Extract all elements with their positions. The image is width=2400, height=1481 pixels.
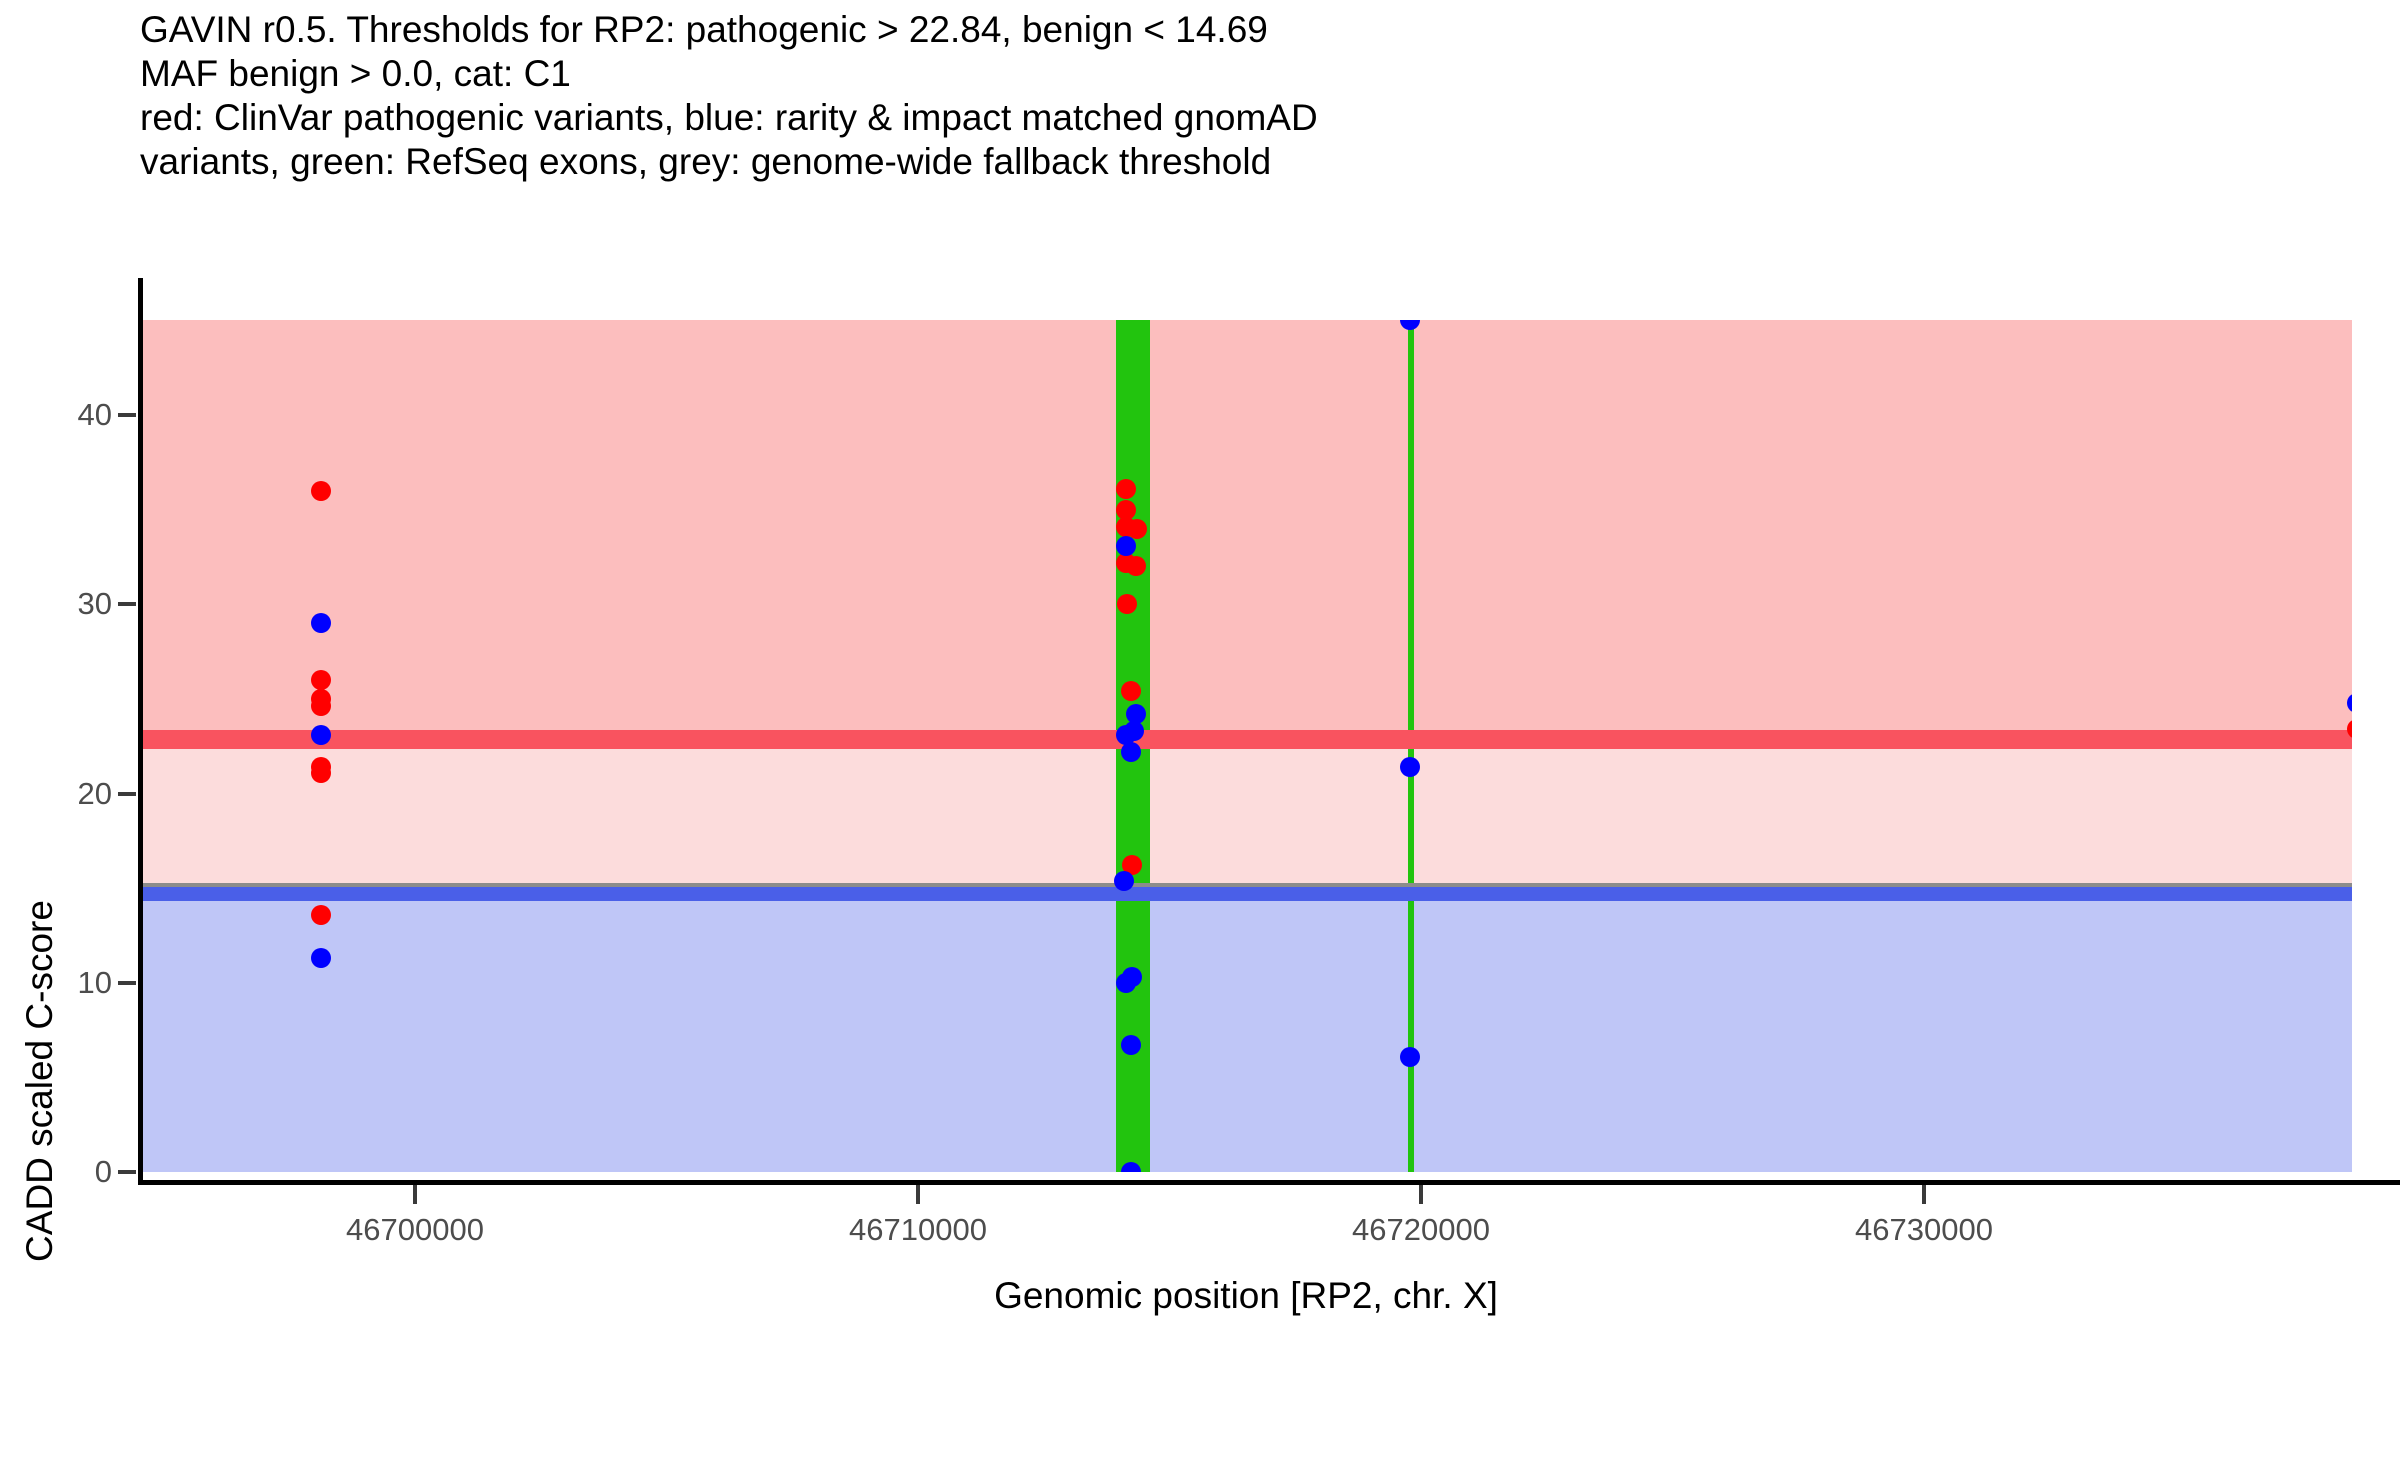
data-point-benign	[311, 948, 331, 968]
data-point-pathogenic	[311, 670, 331, 690]
region-vous	[140, 740, 2352, 894]
data-point-benign	[311, 613, 331, 633]
y-axis-tick	[118, 981, 136, 985]
plot-title-block: GAVIN r0.5. Thresholds for RP2: pathogen…	[140, 8, 2340, 184]
data-point-pathogenic	[1116, 479, 1136, 499]
benign-threshold-line	[140, 887, 2352, 901]
data-point-benign	[1122, 967, 1142, 987]
pathogenic-threshold-line	[140, 730, 2352, 749]
y-axis-title-wrap: CADD scaled C-score	[10, 400, 70, 920]
data-point-benign	[1114, 871, 1134, 891]
y-axis-tick	[118, 602, 136, 606]
y-axis-tick	[118, 1170, 136, 1174]
data-point-pathogenic	[311, 905, 331, 925]
x-axis-line	[138, 1180, 2400, 1185]
y-axis-tick	[118, 792, 136, 796]
x-axis-tick-label: 46710000	[849, 1212, 987, 1248]
y-axis-tick-label: 20	[78, 776, 112, 812]
data-point-benign	[1116, 536, 1136, 556]
y-axis-tick-label: 0	[95, 1154, 112, 1190]
y-axis-tick-label: 30	[78, 586, 112, 622]
data-point-benign	[1400, 757, 1420, 777]
data-point-pathogenic	[311, 696, 331, 716]
data-point-pathogenic	[1126, 556, 1146, 576]
data-point-pathogenic	[311, 481, 331, 501]
data-point-benign	[1121, 1035, 1141, 1055]
y-axis-tick-label: 10	[78, 965, 112, 1001]
y-axis-tick-label: 40	[78, 397, 112, 433]
title-line-2: MAF benign > 0.0, cat: C1	[140, 52, 2340, 96]
x-axis-tick	[413, 1185, 417, 1204]
data-point-benign	[311, 725, 331, 745]
title-line-3: red: ClinVar pathogenic variants, blue: …	[140, 96, 2340, 140]
y-axis-line	[138, 278, 143, 1182]
x-axis-tick-label: 46720000	[1352, 1212, 1490, 1248]
y-axis-tick	[118, 413, 136, 417]
data-point-benign	[1400, 1047, 1420, 1067]
x-axis-tick	[1419, 1185, 1423, 1204]
data-point-pathogenic	[1117, 594, 1137, 614]
region-benign	[140, 894, 2352, 1172]
x-axis-tick-label: 46700000	[346, 1212, 484, 1248]
data-point-pathogenic	[311, 763, 331, 783]
x-axis-title: Genomic position [RP2, chr. X]	[140, 1275, 2352, 1317]
x-axis-tick-label: 46730000	[1855, 1212, 1993, 1248]
region-pathogenic	[140, 320, 2352, 740]
x-axis-tick	[916, 1185, 920, 1204]
title-line-4: variants, green: RefSeq exons, grey: gen…	[140, 140, 2340, 184]
y-axis-title: CADD scaled C-score	[19, 681, 61, 1481]
data-point-benign	[1124, 721, 1144, 741]
plot-panel	[140, 320, 2352, 1172]
data-point-benign	[1121, 742, 1141, 762]
data-point-pathogenic	[1121, 681, 1141, 701]
x-axis-tick	[1922, 1185, 1926, 1204]
title-line-1: GAVIN r0.5. Thresholds for RP2: pathogen…	[140, 8, 2340, 52]
plot-root: GAVIN r0.5. Thresholds for RP2: pathogen…	[0, 0, 2400, 1350]
